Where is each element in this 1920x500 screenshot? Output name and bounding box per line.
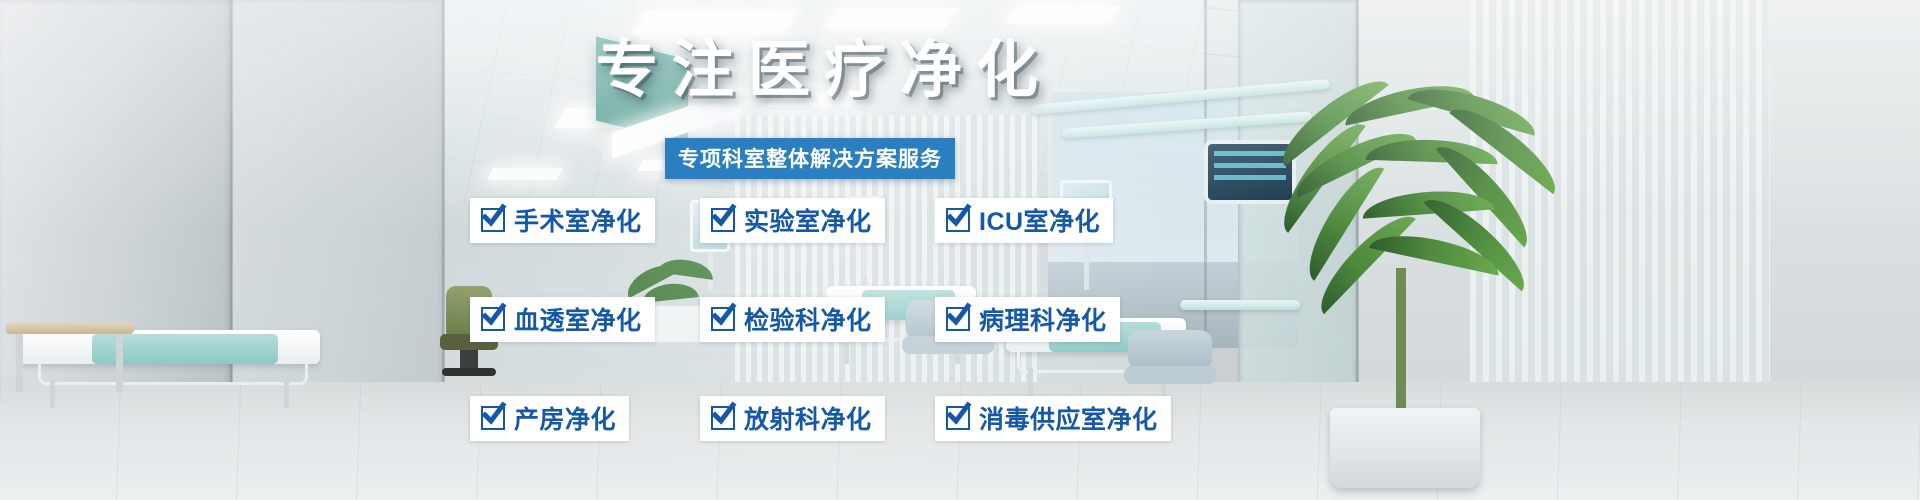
service-item-label: 放射科净化 bbox=[744, 400, 872, 436]
checkbox-checked-icon bbox=[711, 307, 735, 331]
service-item-sterile-supply[interactable]: 消毒供应室净化 bbox=[935, 396, 1171, 441]
service-list: 手术室净化 血透室净化 产房净化 bbox=[470, 198, 1195, 441]
service-item-label: 手术室净化 bbox=[514, 202, 642, 238]
service-item-label: ICU室净化 bbox=[979, 202, 1100, 238]
service-column-2: 实验室净化 检验科净化 放射科净化 bbox=[700, 198, 935, 441]
spacer bbox=[470, 243, 700, 297]
spacer bbox=[700, 243, 935, 297]
spacer bbox=[935, 342, 1195, 396]
service-column-1: 手术室净化 血透室净化 产房净化 bbox=[470, 198, 700, 441]
service-item-pathology[interactable]: 病理科净化 bbox=[935, 297, 1120, 342]
service-item-laboratory[interactable]: 实验室净化 bbox=[700, 198, 885, 243]
service-item-delivery-room[interactable]: 产房净化 bbox=[470, 396, 629, 441]
service-item-label: 实验室净化 bbox=[744, 202, 872, 238]
service-item-clinical-testing[interactable]: 检验科净化 bbox=[700, 297, 885, 342]
service-item-label: 血透室净化 bbox=[514, 301, 642, 337]
banner-headline: 专注医疗净化 bbox=[596, 40, 1052, 102]
checkbox-checked-icon bbox=[481, 208, 505, 232]
spacer bbox=[700, 342, 935, 396]
checkbox-checked-icon bbox=[481, 406, 505, 430]
service-item-label: 病理科净化 bbox=[979, 301, 1107, 337]
checkbox-checked-icon bbox=[946, 208, 970, 232]
service-item-surgery-room[interactable]: 手术室净化 bbox=[470, 198, 655, 243]
spacer bbox=[935, 243, 1195, 297]
promo-banner: 专注医疗净化 专项科室整体解决方案服务 手术室净化 血透室净化 bbox=[0, 0, 1920, 500]
service-item-label: 检验科净化 bbox=[744, 301, 872, 337]
banner-subtitle-bar: 专项科室整体解决方案服务 bbox=[665, 138, 955, 179]
service-item-icu[interactable]: ICU室净化 bbox=[935, 198, 1113, 243]
checkbox-checked-icon bbox=[711, 208, 735, 232]
service-column-3: ICU室净化 病理科净化 消毒供应室净化 bbox=[935, 198, 1195, 441]
checkbox-checked-icon bbox=[711, 406, 735, 430]
checkbox-checked-icon bbox=[946, 406, 970, 430]
service-item-dialysis-room[interactable]: 血透室净化 bbox=[470, 297, 655, 342]
banner-content-layer: 专注医疗净化 专项科室整体解决方案服务 手术室净化 血透室净化 bbox=[0, 0, 1920, 500]
spacer bbox=[470, 342, 700, 396]
checkbox-checked-icon bbox=[946, 307, 970, 331]
service-item-label: 消毒供应室净化 bbox=[979, 400, 1158, 436]
checkbox-checked-icon bbox=[481, 307, 505, 331]
service-item-label: 产房净化 bbox=[514, 400, 616, 436]
service-item-radiology[interactable]: 放射科净化 bbox=[700, 396, 885, 441]
